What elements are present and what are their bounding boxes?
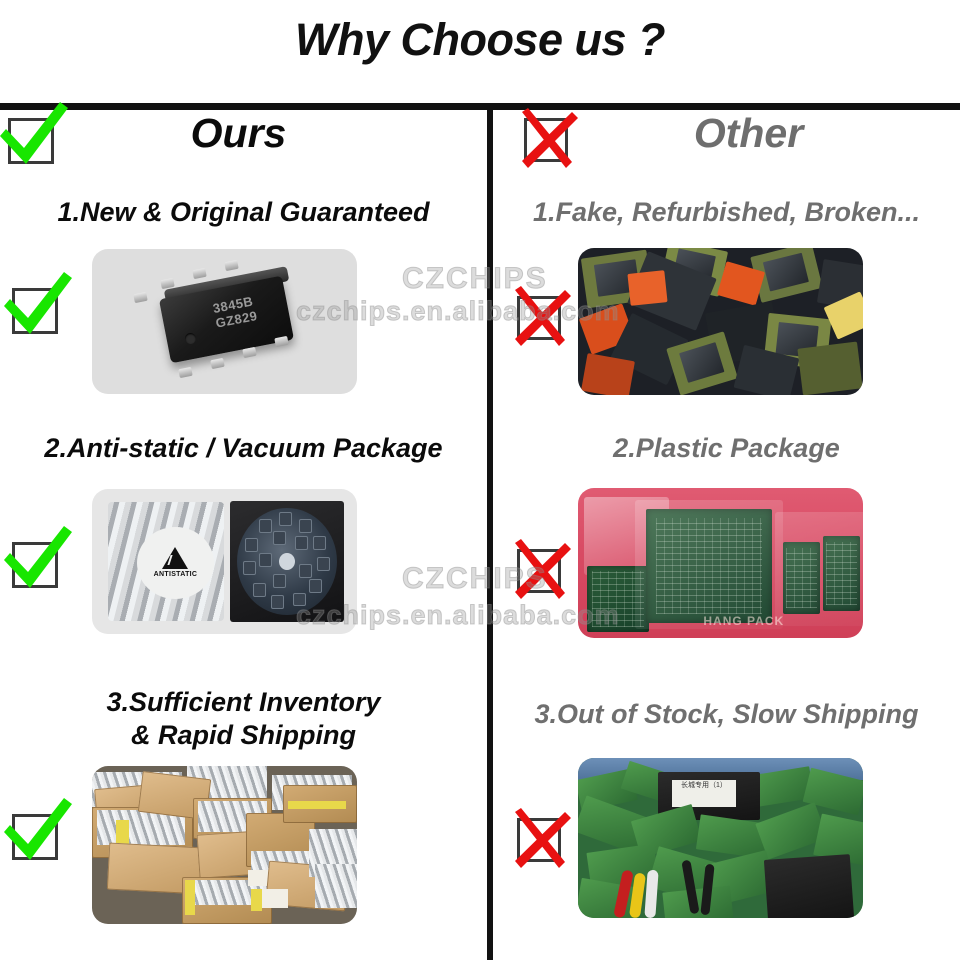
row-2-left: 2.Anti-static / Vacuum Package ANTISTATI… [0, 432, 487, 664]
row-2-right-image: HANG PACK [578, 488, 863, 638]
row-3-left-heading-2: & Rapid Shipping [0, 719, 487, 752]
antistatic-symbol: ANTISTATIC [137, 527, 214, 600]
column-header-ours: Ours [0, 110, 487, 172]
row-1-right-image [578, 248, 863, 395]
row-3-left-heading: 3.Sufficient Inventory [0, 686, 487, 719]
pack-overlay-text: HANG PACK [703, 614, 784, 628]
column-label-other: Other [515, 110, 960, 157]
scrap-sign-text: 长城专用（1） [672, 780, 736, 790]
why-choose-us-comparison-graphic: Why Choose us ? Ours Other 1.New & Origi… [0, 0, 960, 960]
row-1-check-mark-icon [12, 288, 58, 334]
row-1-left-image: 3845B GZ829 [92, 249, 357, 394]
row-1-right: 1.Fake, Refurbished, Broken... [493, 196, 960, 420]
row-2-left-image: ANTISTATIC [92, 489, 357, 634]
row-3-left: 3.Sufficient Inventory & Rapid Shipping [0, 686, 487, 956]
row-2-right-heading: 2.Plastic Package [493, 432, 960, 465]
column-label-ours: Ours [0, 110, 482, 157]
row-1-left-heading: 1.New & Original Guaranteed [0, 196, 487, 229]
row-2-cross-mark-icon [517, 549, 561, 593]
row-3-right-image: 长城专用（1） [578, 758, 863, 918]
row-2-right: 2.Plastic Package HANG PACK [493, 432, 960, 664]
row-3-right-heading: 3.Out of Stock, Slow Shipping [493, 698, 960, 731]
row-1-left: 1.New & Original Guaranteed [0, 196, 487, 420]
row-1-cross-mark-icon [517, 296, 561, 340]
row-3-check-mark-icon [12, 814, 58, 860]
page-title: Why Choose us ? [0, 14, 960, 66]
horizontal-divider [0, 103, 960, 110]
row-3-left-image [92, 766, 357, 924]
column-header-other: Other [493, 110, 960, 172]
row-2-check-mark-icon [12, 542, 58, 588]
row-3-cross-mark-icon [517, 818, 561, 862]
row-2-left-heading: 2.Anti-static / Vacuum Package [0, 432, 487, 465]
row-3-right: 3.Out of Stock, Slow Shipping 长城专用（1） [493, 698, 960, 956]
row-1-right-heading: 1.Fake, Refurbished, Broken... [493, 196, 960, 229]
